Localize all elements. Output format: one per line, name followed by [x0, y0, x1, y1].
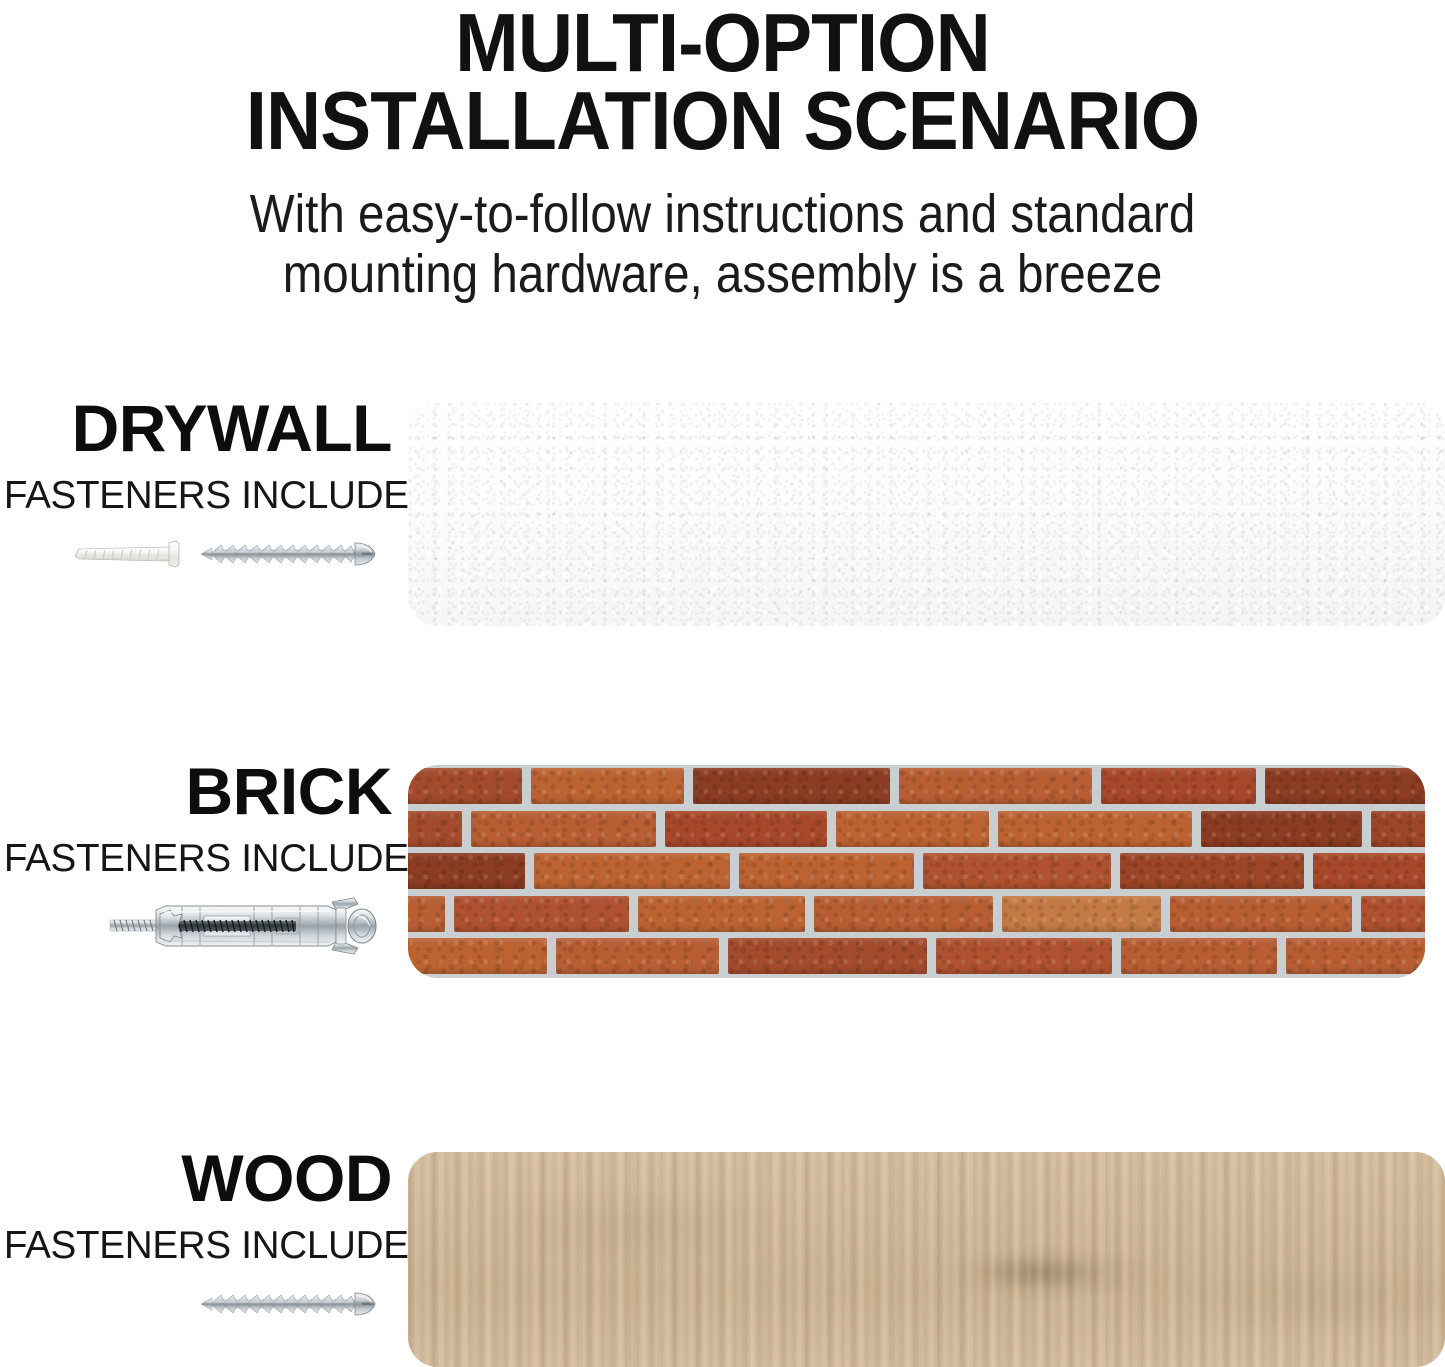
brick-unit: [1121, 938, 1277, 974]
brick-unit: [936, 938, 1112, 974]
fasteners-note-wood: FASTENERS INCLUDED: [4, 1225, 392, 1267]
brick-row: [408, 935, 1425, 978]
infographic-page: MULTI-OPTION INSTALLATION SCENARIO With …: [0, 0, 1445, 1367]
brick-unit: [408, 811, 462, 847]
brick-unit: [836, 811, 989, 847]
brick-unit: [1002, 896, 1161, 932]
fasteners-note-drywall: FASTENERS INCLUDED: [4, 475, 392, 517]
brick-unit: [899, 768, 1092, 804]
brick-unit: [998, 811, 1192, 847]
brick-unit: [408, 896, 445, 932]
brick-unit: [534, 853, 730, 889]
brick-swatch: [408, 765, 1425, 978]
wood-labels: WOOD FASTENERS INCLUDED: [0, 1145, 392, 1367]
brick-row: [408, 893, 1425, 936]
brick-hardware-row: [0, 896, 392, 956]
brick-unit: [408, 768, 522, 804]
brick-unit: [408, 853, 525, 889]
brick-unit: [1313, 853, 1425, 889]
wood-swatch: [408, 1152, 1445, 1367]
drywall-texture: [408, 402, 1445, 626]
brick-unit: [1170, 896, 1352, 932]
brick-unit: [1201, 811, 1362, 847]
brick-unit: [1265, 768, 1425, 804]
brick-row: [408, 850, 1425, 893]
section-brick: BRICK FASTENERS INCLUDED: [0, 758, 1445, 1008]
brick-unit: [556, 938, 719, 974]
subtitle-line-1: With easy-to-follow instructions and sta…: [87, 184, 1359, 244]
drywall-hardware-row: [0, 533, 392, 575]
pan-head-screw-icon: [199, 1283, 384, 1325]
brick-unit: [638, 896, 805, 932]
header: MULTI-OPTION INSTALLATION SCENARIO With …: [0, 0, 1445, 304]
brick-unit: [693, 768, 890, 804]
pan-head-screw-icon: [199, 533, 384, 575]
title-line-2: INSTALLATION SCENARIO: [58, 82, 1387, 160]
page-title: MULTI-OPTION INSTALLATION SCENARIO: [58, 0, 1387, 160]
brick-row: [408, 808, 1425, 851]
material-name-brick: BRICK: [0, 758, 392, 824]
section-wood: WOOD FASTENERS INCLUDED: [0, 1145, 1445, 1367]
brick-unit: [1120, 853, 1304, 889]
material-name-wood: WOOD: [0, 1145, 392, 1211]
drywall-swatch: [408, 402, 1445, 626]
section-drywall: DRYWALL FASTENERS INCLUDED: [0, 395, 1445, 645]
brick-unit: [408, 938, 547, 974]
fasteners-note-brick: FASTENERS INCLUDED: [4, 838, 392, 880]
wood-texture: [408, 1152, 1445, 1367]
brick-unit: [454, 896, 629, 932]
brick-unit: [471, 811, 656, 847]
subtitle-line-2: mounting hardware, assembly is a breeze: [87, 244, 1359, 304]
brick-unit: [923, 853, 1111, 889]
brick-unit: [1371, 811, 1425, 847]
plastic-wall-anchor-icon: [69, 534, 189, 574]
brick-unit: [1101, 768, 1256, 804]
drywall-labels: DRYWALL FASTENERS INCLUDED: [0, 395, 392, 645]
material-name-drywall: DRYWALL: [0, 395, 392, 461]
brick-row: [408, 765, 1425, 808]
page-subtitle: With easy-to-follow instructions and sta…: [87, 184, 1359, 304]
molly-bolt-anchor-icon: [104, 896, 384, 956]
brick-texture: [408, 765, 1425, 978]
brick-unit: [531, 768, 684, 804]
wood-hardware-row: [0, 1283, 392, 1325]
brick-unit: [1286, 938, 1425, 974]
brick-labels: BRICK FASTENERS INCLUDED: [0, 758, 392, 1008]
brick-unit: [728, 938, 927, 974]
brick-unit: [814, 896, 993, 932]
brick-unit: [1361, 896, 1425, 932]
brick-unit: [665, 811, 827, 847]
title-line-1: MULTI-OPTION: [58, 4, 1387, 82]
brick-unit: [739, 853, 914, 889]
